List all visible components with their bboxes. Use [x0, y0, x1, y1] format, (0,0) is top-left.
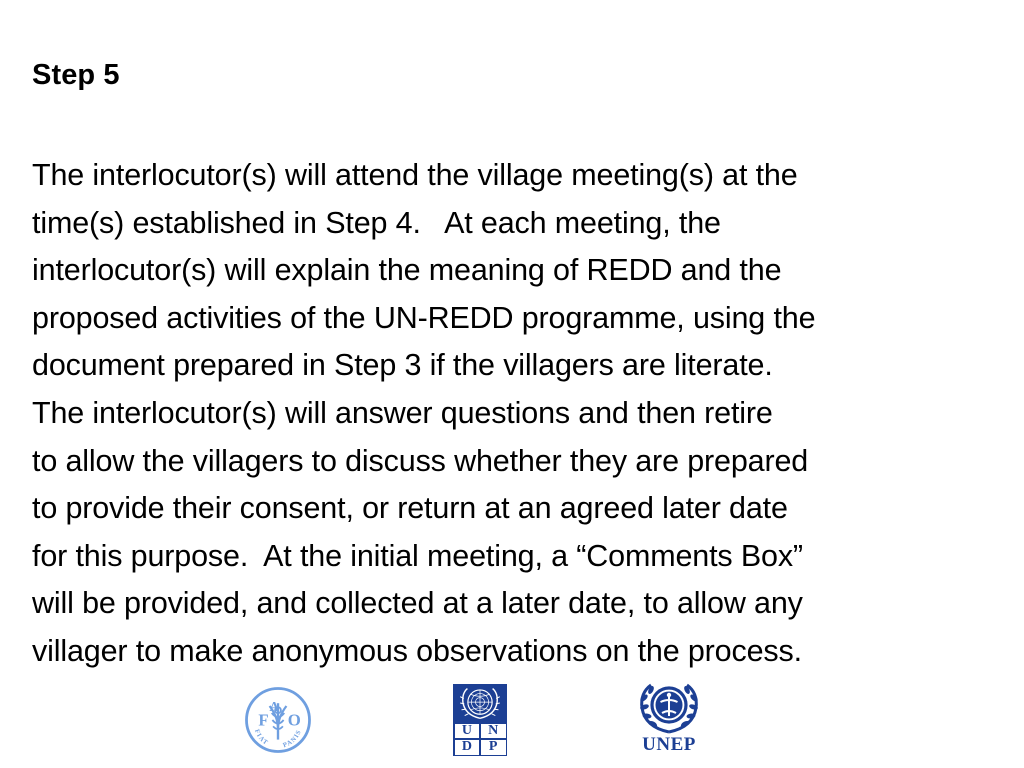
undp-letter-grid: U N D P: [453, 722, 507, 756]
body-line: for this purpose. At the initial meeting…: [32, 533, 1000, 581]
svg-text:O: O: [288, 711, 301, 730]
body-line: to provide their consent, or return at a…: [32, 485, 1000, 533]
undp-letter-d: D: [455, 740, 480, 755]
undp-letter-n: N: [481, 724, 506, 739]
undp-letter-p: P: [481, 740, 506, 755]
body-line: will be provided, and collected at a lat…: [32, 580, 1000, 628]
fao-logo-icon: F A O FIAT PANIS: [243, 685, 313, 755]
svg-text:PANIS: PANIS: [282, 729, 303, 750]
body-line: interlocutor(s) will explain the meaning…: [32, 247, 1000, 295]
svg-text:A: A: [269, 699, 279, 714]
body-line: villager to make anonymous observations …: [32, 628, 1000, 676]
undp-logo-icon: U N D P: [453, 684, 507, 756]
svg-text:F: F: [258, 711, 268, 730]
body-line: The interlocutor(s) will answer question…: [32, 390, 1000, 438]
body-line: proposed activities of the UN-REDD progr…: [32, 295, 1000, 343]
slide-canvas: Step 5 The interlocutor(s) will attend t…: [0, 0, 1024, 768]
svg-text:FIAT: FIAT: [253, 728, 270, 747]
unep-logo-icon: UNEP: [629, 680, 709, 758]
body-line: to allow the villagers to discuss whethe…: [32, 438, 1000, 486]
page-title: Step 5: [32, 60, 120, 92]
slide-body-text: The interlocutor(s) will attend the vill…: [32, 152, 1000, 676]
partner-logo-strip: F A O FIAT PANIS: [0, 676, 1024, 762]
body-line: The interlocutor(s) will attend the vill…: [32, 152, 1000, 200]
body-line: document prepared in Step 3 if the villa…: [32, 342, 1000, 390]
undp-letter-u: U: [455, 724, 480, 739]
un-emblem-icon: [453, 684, 507, 722]
unep-wordmark: UNEP: [629, 735, 709, 754]
body-line: time(s) established in Step 4. At each m…: [32, 200, 1000, 248]
